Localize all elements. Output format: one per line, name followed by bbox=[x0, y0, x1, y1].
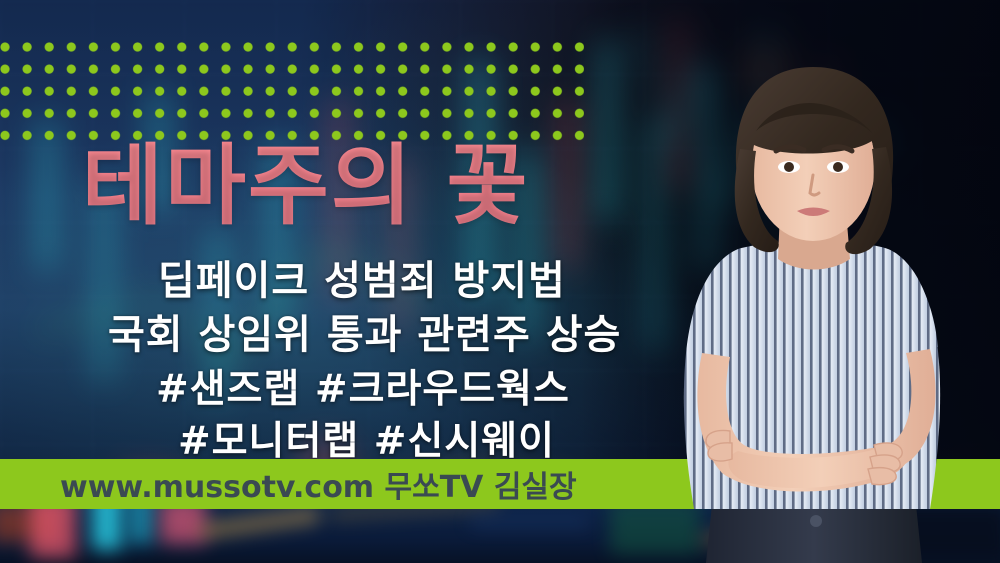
subheadline-line-1: 딥페이크 성범죄 방지법 bbox=[158, 248, 566, 306]
presenter-figure bbox=[630, 53, 1000, 563]
hashtag-line-2: #모니터랩 #신시웨이 bbox=[178, 410, 555, 466]
subheadline-line-2: 국회 상임위 통과 관련주 상승 bbox=[108, 302, 621, 360]
headline-title: 테마주의 꽃 bbox=[82, 140, 529, 232]
green-dot-grid bbox=[0, 42, 584, 142]
hashtag-line-1: #샌즈랩 #크라우드웍스 bbox=[156, 358, 570, 414]
thumbnail-canvas: 테마주의 꽃 딥페이크 성범죄 방지법 국회 상임위 통과 관련주 상승 #샌즈… bbox=[0, 0, 1000, 563]
